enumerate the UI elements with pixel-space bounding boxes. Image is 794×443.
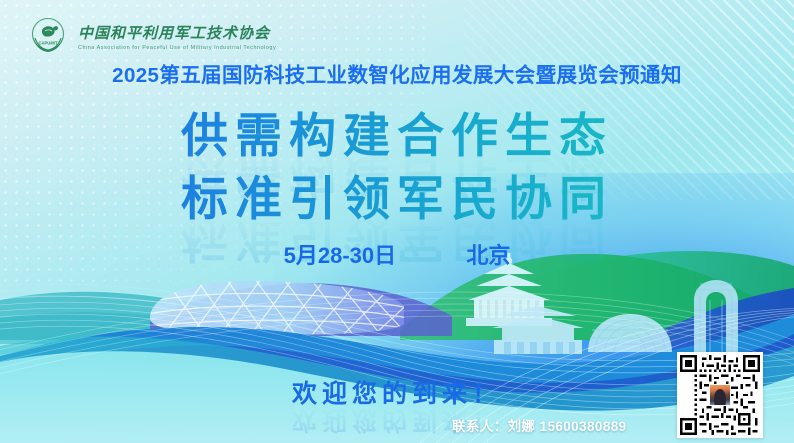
headline-line2: 标准引领军民协同 <box>0 160 794 229</box>
profile-avatar-icon <box>709 384 731 406</box>
event-date: 5月28-30日 <box>284 243 397 268</box>
capumit-dove-emblem-icon: CAPUMIT <box>26 14 70 58</box>
event-city: 北京 <box>466 243 510 268</box>
organization-name-en: China Association for Peaceful Use of Mi… <box>78 45 276 51</box>
event-meta: 5月28-30日 北京 <box>0 238 794 270</box>
contact-info: 联系人：刘娜 15600380889 <box>452 415 627 435</box>
qr-code[interactable] <box>677 352 763 438</box>
headline-line1: 供需构建合作生态 <box>0 97 794 166</box>
poster-title: 2025第五届国防科技工业数智化应用发展大会暨展览会预通知 <box>0 58 794 88</box>
organization-logo: CAPUMIT 中国和平利用军工技术协会 China Association f… <box>26 14 276 58</box>
organization-name-cn: 中国和平利用军工技术协会 <box>78 22 276 43</box>
conference-poster: CAPUMIT 中国和平利用军工技术协会 China Association f… <box>0 0 794 443</box>
welcome-message: 欢迎您的到来！ <box>0 374 794 410</box>
svg-text:CAPUMIT: CAPUMIT <box>38 41 58 46</box>
